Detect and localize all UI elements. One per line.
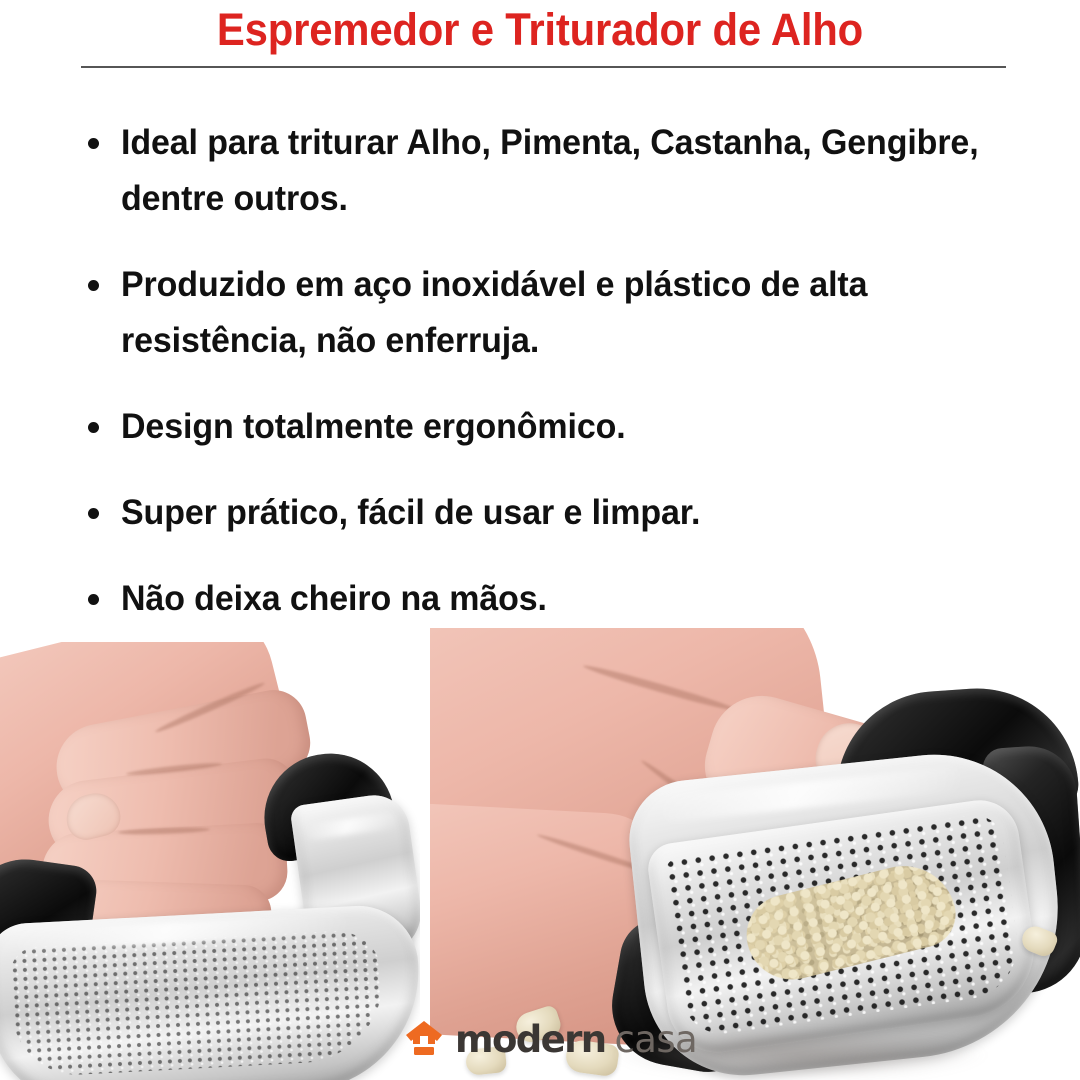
feature-text: Produzido em aço inoxidável e plástico d… (121, 257, 997, 369)
header: Espremedor e Triturador de Alho (0, 0, 1080, 80)
bullet-icon (88, 422, 99, 433)
brand-logo: modern casa (404, 1014, 697, 1064)
press-steel-plate (0, 903, 420, 1080)
feature-list: Ideal para triturar Alho, Pimenta, Casta… (84, 115, 1024, 627)
page-title: Espremedor e Triturador de Alho (38, 4, 1042, 56)
product-photo-left (0, 642, 420, 1080)
feature-text: Ideal para triturar Alho, Pimenta, Casta… (121, 115, 997, 227)
bullet-icon (88, 138, 99, 149)
list-item: Super prático, fácil de usar e limpar. (84, 485, 1024, 541)
perforation-pattern (9, 929, 387, 1078)
feature-text: Não deixa cheiro na mãos. (121, 571, 997, 627)
bullet-icon (88, 280, 99, 291)
logo-wordmark: modern casa (455, 1018, 697, 1061)
list-item: Produzido em aço inoxidável e plástico d… (84, 257, 1024, 369)
logo-word-modern: modern (455, 1018, 606, 1061)
garlic-press-crushing-illustration (430, 628, 1080, 1080)
product-photo-strip (0, 628, 1080, 1080)
product-photo-right (430, 628, 1080, 1080)
logo-word-casa: casa (615, 1018, 698, 1061)
feature-text: Super prático, fácil de usar e limpar. (121, 485, 997, 541)
product-info-card: Espremedor e Triturador de Alho Ideal pa… (0, 0, 1080, 1080)
list-item: Design totalmente ergonômico. (84, 399, 1024, 455)
list-item: Não deixa cheiro na mãos. (84, 571, 1024, 627)
bullet-icon (88, 594, 99, 605)
garlic-press-in-hand-illustration (0, 642, 420, 1080)
feature-text: Design totalmente ergonômico. (121, 399, 997, 455)
house-icon (404, 1020, 444, 1058)
list-item: Ideal para triturar Alho, Pimenta, Casta… (84, 115, 1024, 227)
bullet-icon (88, 508, 99, 519)
title-divider (81, 66, 1006, 68)
